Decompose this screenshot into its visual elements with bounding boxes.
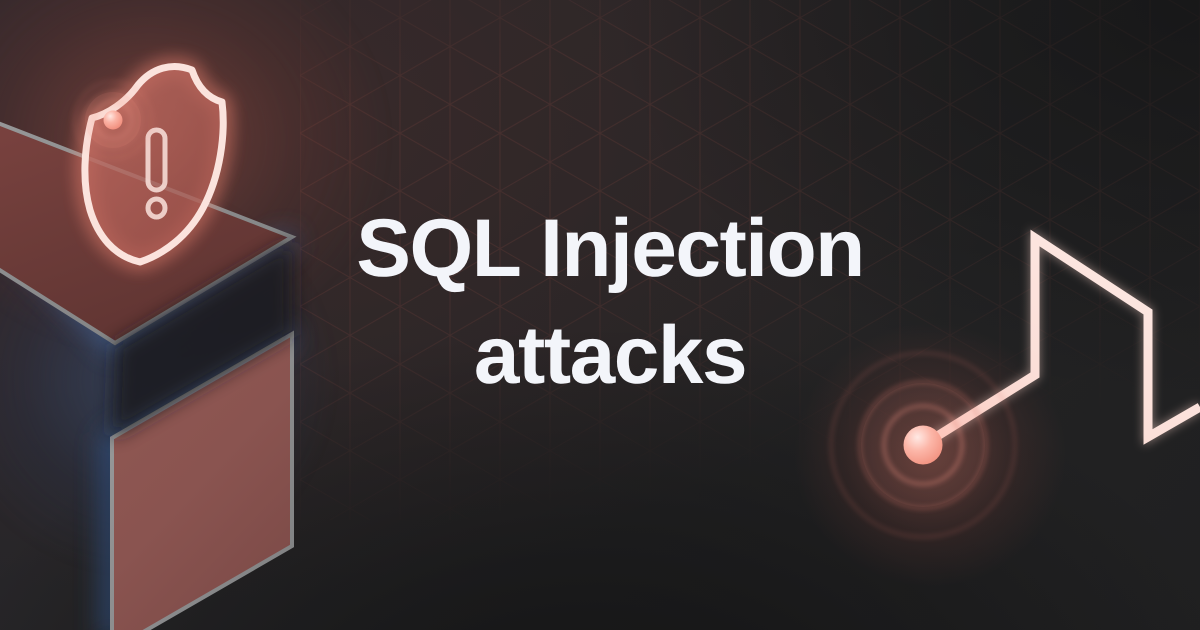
- page-title-line-1: SQL Injection: [300, 196, 920, 303]
- shield-alert-graphic: [40, 30, 280, 300]
- page-title-line-2: attacks: [300, 303, 920, 410]
- social-card-canvas: SQL Injection attacks: [0, 0, 1200, 630]
- pulse-node-small: [75, 82, 151, 158]
- page-title: SQL Injection attacks: [300, 196, 920, 409]
- pulse-node-small-dot: [104, 111, 123, 130]
- pulse-node-large-dot: [904, 426, 943, 465]
